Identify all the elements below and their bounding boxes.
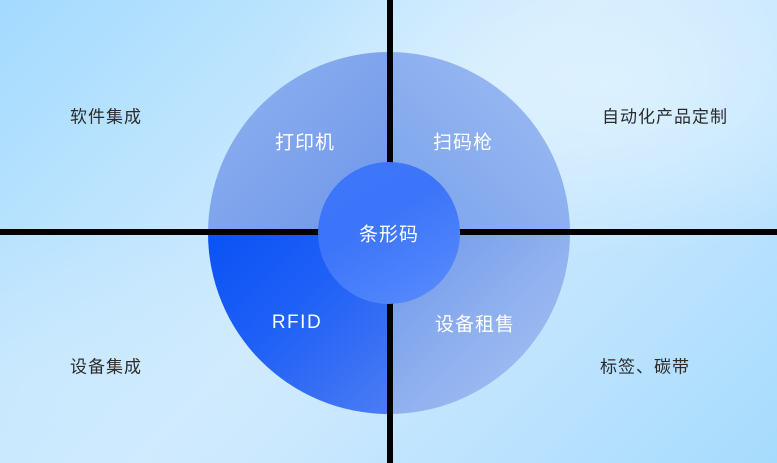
segment-label-rfid[interactable]: RFID xyxy=(272,312,322,334)
segment-label-printer[interactable]: 打印机 xyxy=(275,128,335,155)
segment-label-scanner[interactable]: 扫码枪 xyxy=(433,128,493,155)
segment-label-rental[interactable]: 设备租售 xyxy=(435,310,515,337)
center-circle-label[interactable]: 条形码 xyxy=(359,220,419,247)
quadrant-label-device[interactable]: 设备集成 xyxy=(70,353,142,378)
diagram-canvas: 打印机 扫码枪 RFID 设备租售 条形码 软件集成 自动化产品定制 设备集成 … xyxy=(0,0,777,463)
quadrant-label-ribbon[interactable]: 标签、碳带 xyxy=(600,353,690,378)
quadrant-label-software[interactable]: 软件集成 xyxy=(70,103,142,128)
quadrant-label-automation[interactable]: 自动化产品定制 xyxy=(602,103,728,128)
